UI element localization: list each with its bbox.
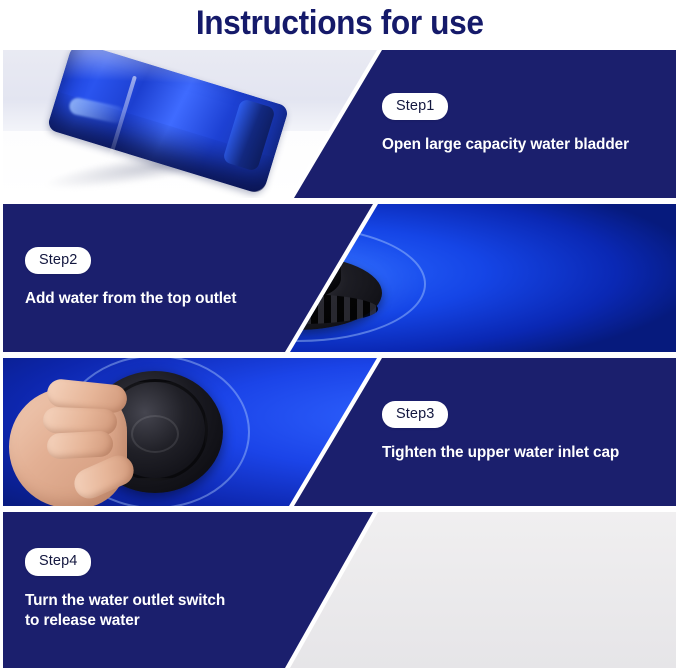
page-title-bar: Instructions for use — [0, 0, 679, 46]
step-badge-2[interactable]: Step2 — [25, 247, 91, 275]
step-row-2: Step2 Add water from the top outlet — [3, 204, 676, 352]
step-badge-1[interactable]: Step1 — [382, 93, 448, 121]
step-row-1: Step1 Open large capacity water bladder — [3, 50, 676, 198]
step-badge-4[interactable]: Step4 — [25, 548, 91, 576]
step-badge-3[interactable]: Step3 — [382, 401, 448, 429]
instructions-infographic: Instructions for use Step1 Open large ca… — [0, 0, 679, 671]
step-row-4: Step4 Turn the water outlet switch to re… — [3, 512, 676, 668]
step-row-3: Step3 Tighten the upper water inlet cap — [3, 358, 676, 506]
hand-finger-ring — [46, 430, 113, 459]
page-title: Instructions for use — [196, 4, 484, 43]
